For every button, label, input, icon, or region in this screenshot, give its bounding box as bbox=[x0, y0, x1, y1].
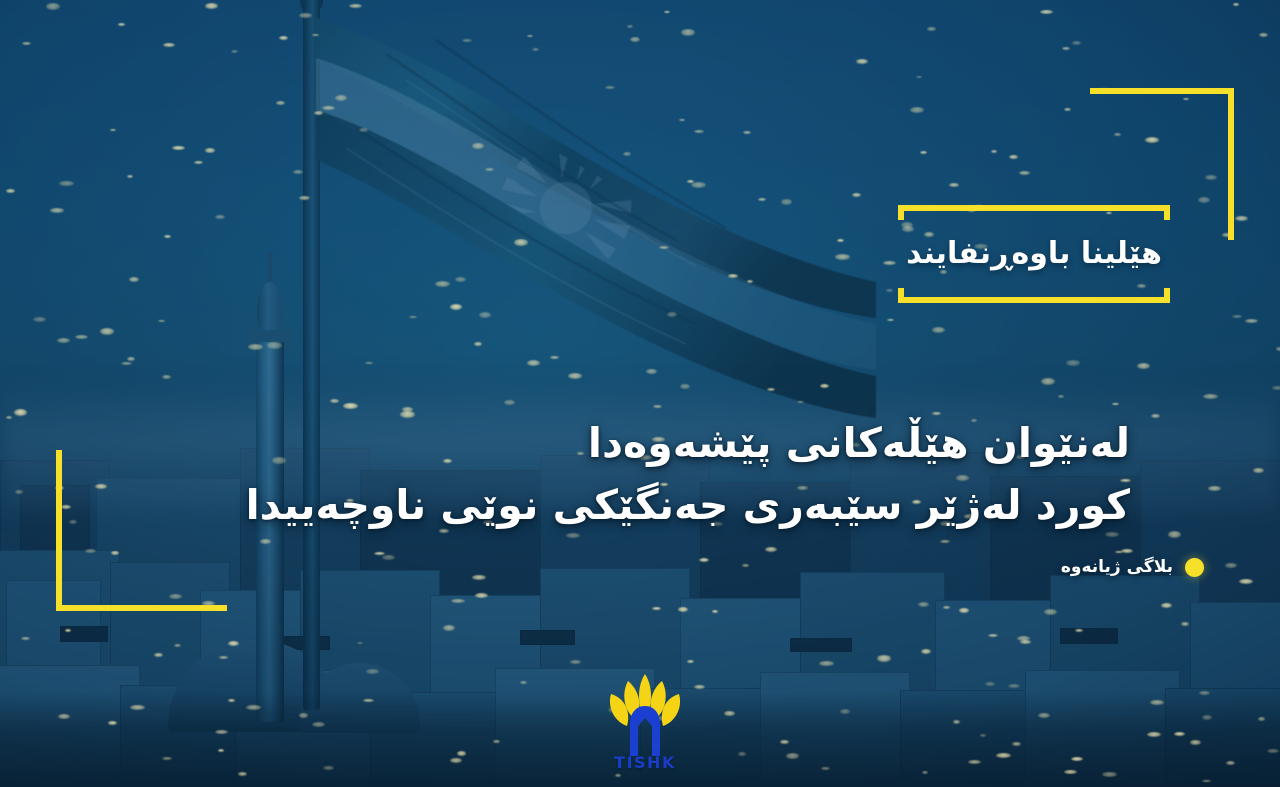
kicker-tail-bottom-left bbox=[898, 288, 904, 303]
kicker-label: هێلینا باوەڕنفایند bbox=[906, 239, 1162, 269]
headline-line-2: کورد لەژێر سێبەری جەنگێکی نوێی ناوچەییدا bbox=[246, 474, 1130, 536]
kicker-badge: هێلینا باوەڕنفایند bbox=[898, 205, 1170, 303]
yellow-dot-icon bbox=[1185, 558, 1204, 577]
tishk-flower-logo-icon bbox=[597, 668, 693, 756]
kicker-tail-top-left bbox=[898, 205, 904, 220]
logo-wordmark: TISHK bbox=[597, 753, 693, 772]
source-label: بلاگی ژیانەوە bbox=[1061, 557, 1173, 577]
kicker-tail-bottom-right bbox=[1164, 288, 1170, 303]
corner-bracket-bottom-left bbox=[56, 450, 227, 611]
source-label-group: بلاگی ژیانەوە bbox=[1061, 557, 1204, 577]
kicker-bar-top bbox=[898, 205, 1170, 211]
headline: لەنێوان هێڵەکانی پێشەوەدا کورد لەژێر سێب… bbox=[246, 412, 1130, 537]
headline-line-1: لەنێوان هێڵەکانی پێشەوەدا bbox=[246, 412, 1130, 474]
news-banner: هێلینا باوەڕنفایند لەنێوان هێڵەکانی پێشە… bbox=[0, 0, 1280, 787]
kicker-tail-top-right bbox=[1164, 205, 1170, 220]
kicker-bar-bottom bbox=[898, 297, 1170, 303]
tishk-logo: TISHK bbox=[597, 668, 693, 780]
